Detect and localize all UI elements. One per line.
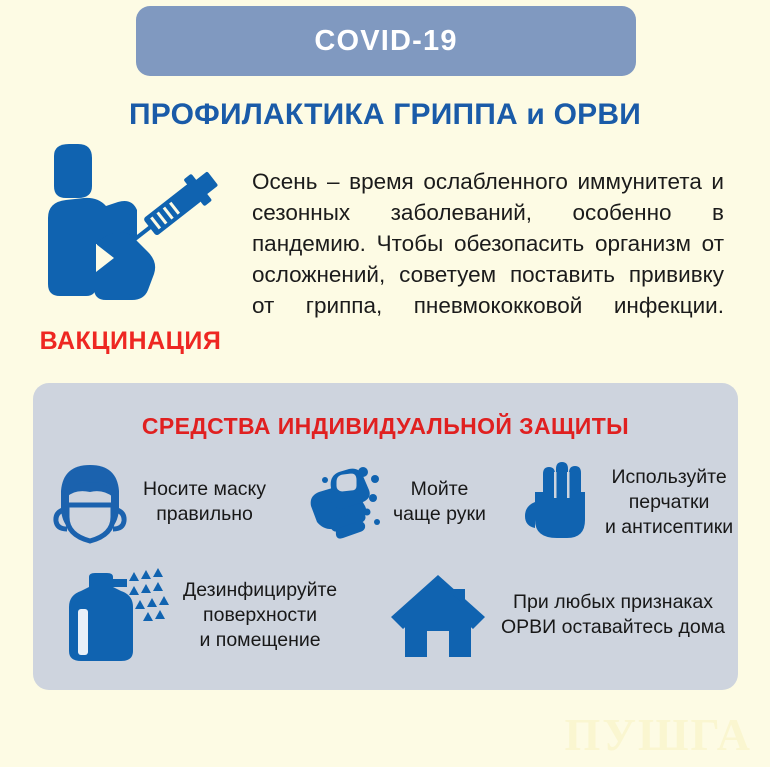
ppe-panel-heading: СРЕДСТВА ИНДИВИДУАЛЬНОЙ ЗАЩИТЫ: [33, 413, 738, 440]
page-title: ПРОФИЛАКТИКА ГРИППА и ОРВИ: [0, 98, 770, 132]
intro-paragraph: Осень – время ослабленного иммунитета и …: [252, 166, 724, 352]
ppe-row: Носите маску правильно: [47, 459, 737, 545]
ppe-item-label: Носите маску правильно: [143, 477, 266, 527]
ppe-panel: СРЕДСТВА ИНДИВИДУАЛЬНОЙ ЗАЩИТЫ: [33, 383, 738, 690]
watermark: ПУШГА: [564, 708, 752, 761]
face-mask-icon: [47, 459, 133, 545]
ppe-item-wash-hands: Мойте чаще руки: [305, 462, 523, 542]
glove-hand-icon: [523, 462, 595, 542]
vaccination-syringe-arm-icon: [28, 140, 233, 325]
vaccination-block: ВАКЦИНАЦИЯ: [28, 140, 233, 356]
covid-header-bar: COVID-19: [136, 6, 636, 76]
house-icon: [389, 571, 487, 659]
ppe-item-gloves: Используйте перчатки и антисептики: [523, 462, 737, 542]
ppe-item-mask: Носите маску правильно: [47, 459, 305, 545]
ppe-item-label: Используйте перчатки и антисептики: [605, 465, 733, 540]
ppe-item-label: Мойте чаще руки: [393, 477, 486, 527]
ppe-item-disinfect: Дезинфицируйте поверхности и помещение: [59, 565, 389, 665]
ppe-item-label: Дезинфицируйте поверхности и помещение: [183, 578, 337, 653]
ppe-row: Дезинфицируйте поверхности и помещение П…: [59, 565, 749, 665]
vaccination-label: ВАКЦИНАЦИЯ: [28, 327, 233, 356]
washing-hands-icon: [305, 462, 385, 542]
covid-header-title: COVID-19: [314, 25, 457, 58]
ppe-item-stay-home: При любых признаках ОРВИ оставайтесь дом…: [389, 571, 749, 659]
ppe-item-label: При любых признаках ОРВИ оставайтесь дом…: [501, 590, 725, 640]
spray-bottle-icon: [59, 565, 169, 665]
